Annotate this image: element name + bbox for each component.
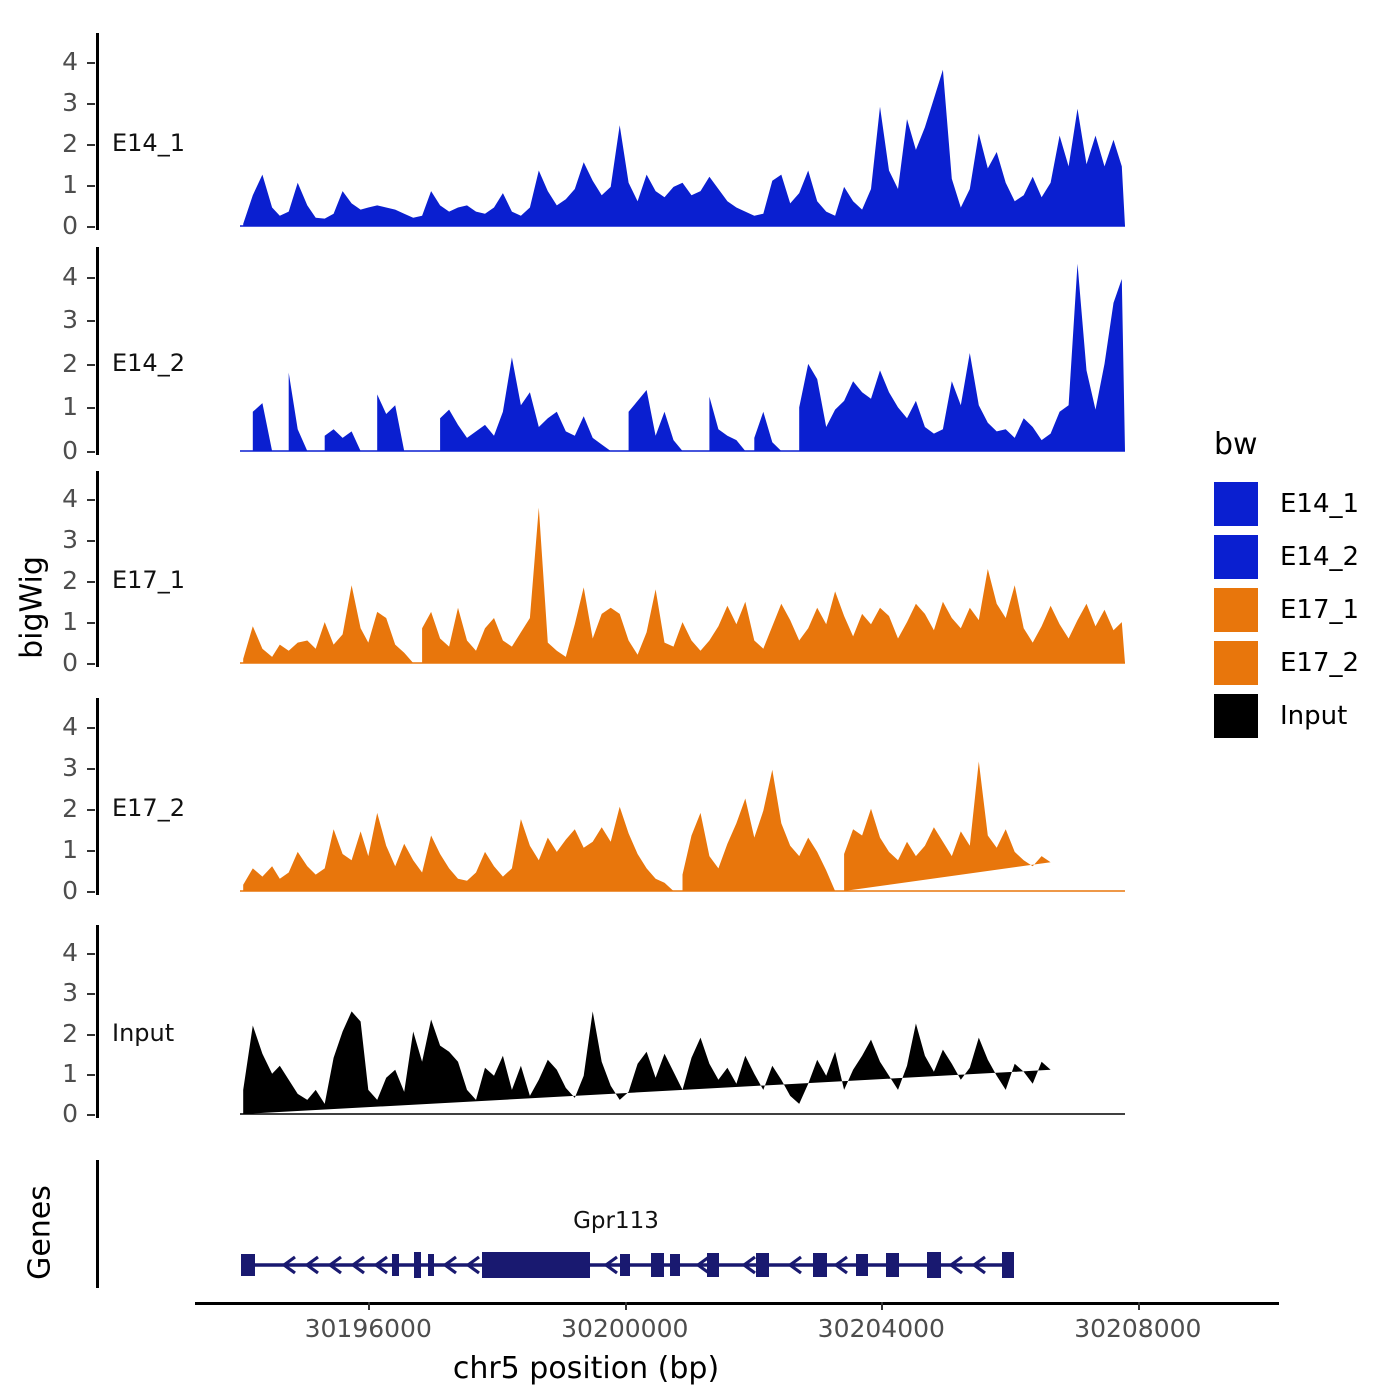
legend-swatch-e14_1 (1214, 482, 1258, 526)
y-tick (87, 1114, 95, 1116)
legend-item-e14_2[interactable]: E14_2 (1214, 535, 1359, 579)
y-tick-label: 1 (38, 609, 78, 634)
legend-title: bw (1214, 430, 1258, 460)
gene-panel: Gpr113 (96, 1160, 1276, 1300)
track-panel-e14_2: 01234E14_2 (96, 247, 1276, 455)
track-panel-e17_1: 01234E17_1 (96, 471, 1276, 667)
y-tick-label: 4 (38, 264, 78, 289)
gene-exon (414, 1252, 421, 1278)
y-tick-label: 0 (38, 213, 78, 238)
y-tick-label: 4 (38, 486, 78, 511)
y-tick (87, 768, 95, 770)
y-tick-label: 0 (38, 1101, 78, 1126)
signal-area-e17_2 (96, 698, 1276, 895)
gene-exon (707, 1253, 719, 1277)
gene-exon (241, 1254, 255, 1276)
y-tick (87, 953, 95, 955)
legend-item-e17_1[interactable]: E17_1 (1214, 588, 1359, 632)
legend-swatch-e14_2 (1214, 535, 1258, 579)
y-tick (87, 809, 95, 811)
y-tick (87, 581, 95, 583)
y-tick-label: 2 (38, 131, 78, 156)
y-tick-label: 1 (38, 837, 78, 862)
gene-model[interactable] (196, 1235, 1296, 1295)
gene-exon (428, 1254, 434, 1276)
y-tick (87, 144, 95, 146)
y-tick (87, 622, 95, 624)
y-tick (87, 727, 95, 729)
y-tick-label: 4 (38, 940, 78, 965)
y-tick-label: 1 (38, 172, 78, 197)
gene-exon (756, 1253, 769, 1277)
gene-exon (482, 1252, 590, 1278)
y-tick-label: 3 (38, 90, 78, 115)
y-tick-label: 3 (38, 755, 78, 780)
gene-exon (392, 1254, 399, 1276)
y-tick-label: 2 (38, 568, 78, 593)
legend: bw E14_1E14_2E17_1E17_2Input (1212, 430, 1400, 740)
x-axis-title: chr5 position (bp) (226, 1354, 946, 1384)
y-tick (87, 663, 95, 665)
track-panel-input: 01234Input (96, 925, 1276, 1118)
y-tick (87, 891, 95, 893)
signal-area-e14_2 (96, 247, 1276, 455)
legend-swatch-e17_1 (1214, 588, 1258, 632)
x-tick-label: 30208000 (1048, 1316, 1228, 1341)
y-tick-label: 4 (38, 49, 78, 74)
y-tick (87, 62, 95, 64)
y-tick-label: 4 (38, 714, 78, 739)
signal-area-e17_1 (96, 471, 1276, 667)
legend-swatch-input (1214, 694, 1258, 738)
y-tick (87, 407, 95, 409)
y-tick-label: 1 (38, 1061, 78, 1086)
y-tick (87, 451, 95, 453)
x-tick (881, 1302, 883, 1310)
track-panel-e14_1: 01234E14_1 (96, 33, 1276, 230)
legend-label: Input (1280, 703, 1347, 729)
signal-area-e14_1 (96, 33, 1276, 230)
y-tick-label: 0 (38, 878, 78, 903)
gene-panel-axis (96, 1160, 99, 1288)
gene-exon (651, 1253, 664, 1277)
legend-item-input[interactable]: Input (1214, 694, 1347, 738)
y-tick-label: 0 (38, 438, 78, 463)
legend-label: E17_2 (1280, 650, 1359, 676)
y-tick (87, 364, 95, 366)
y-tick (87, 277, 95, 279)
x-tick (1138, 1302, 1140, 1310)
gene-exon (927, 1252, 941, 1278)
x-axis: 30196000302000003020400030208000 chr5 po… (96, 1302, 1276, 1397)
y-tick-label: 2 (38, 796, 78, 821)
x-tick (625, 1302, 627, 1310)
legend-label: E14_1 (1280, 491, 1359, 517)
x-tick-label: 30200000 (535, 1316, 715, 1341)
y-tick (87, 499, 95, 501)
x-axis-line (195, 1302, 1279, 1305)
y-tick (87, 320, 95, 322)
gene-exon (886, 1253, 899, 1277)
gene-exon (813, 1253, 827, 1277)
y-tick-label: 3 (38, 307, 78, 332)
signal-area-input (96, 925, 1276, 1118)
legend-item-e17_2[interactable]: E17_2 (1214, 641, 1359, 685)
gene-label: Gpr113 (526, 1210, 706, 1233)
y-tick-label: 1 (38, 394, 78, 419)
y-tick (87, 226, 95, 228)
y-tick (87, 540, 95, 542)
track-panel-e17_2: 01234E17_2 (96, 698, 1276, 895)
y-tick (87, 1074, 95, 1076)
legend-label: E17_1 (1280, 597, 1359, 623)
gene-exon (856, 1254, 868, 1276)
gene-exon (620, 1254, 630, 1276)
y-tick-label: 3 (38, 527, 78, 552)
y-axis-label-genes: Genes (23, 1153, 58, 1313)
gene-exon (1002, 1252, 1014, 1278)
x-tick (368, 1302, 370, 1310)
x-tick-label: 30204000 (791, 1316, 971, 1341)
y-tick-label: 3 (38, 980, 78, 1005)
y-tick (87, 993, 95, 995)
legend-item-e14_1[interactable]: E14_1 (1214, 482, 1359, 526)
legend-swatch-e17_2 (1214, 641, 1258, 685)
y-tick (87, 850, 95, 852)
y-tick-label: 2 (38, 351, 78, 376)
y-tick-label: 0 (38, 650, 78, 675)
x-tick-label: 30196000 (278, 1316, 458, 1341)
y-tick (87, 185, 95, 187)
y-tick (87, 1034, 95, 1036)
y-tick (87, 103, 95, 105)
gene-exon (670, 1254, 680, 1276)
legend-label: E14_2 (1280, 544, 1359, 570)
y-tick-label: 2 (38, 1021, 78, 1046)
